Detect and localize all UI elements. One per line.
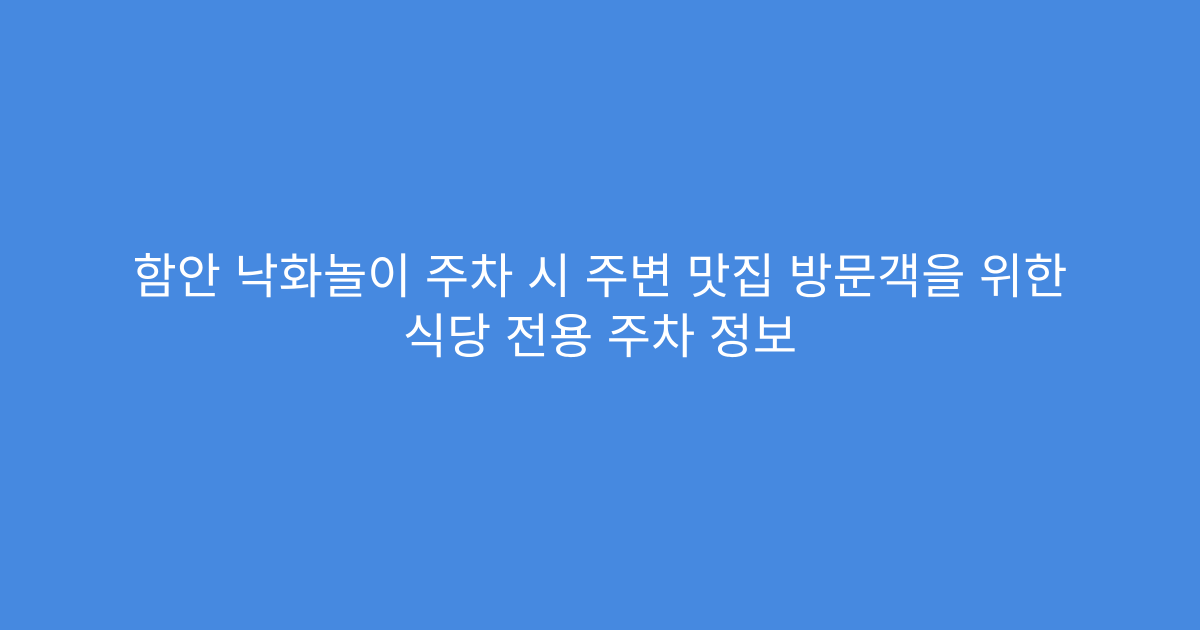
title-block: 함안 낙화놀이 주차 시 주변 맛집 방문객을 위한 식당 전용 주차 정보 [0,248,1200,368]
share-card: 함안 낙화놀이 주차 시 주변 맛집 방문객을 위한 식당 전용 주차 정보 [0,0,1200,630]
card-title: 함안 낙화놀이 주차 시 주변 맛집 방문객을 위한 식당 전용 주차 정보 [60,248,1140,368]
